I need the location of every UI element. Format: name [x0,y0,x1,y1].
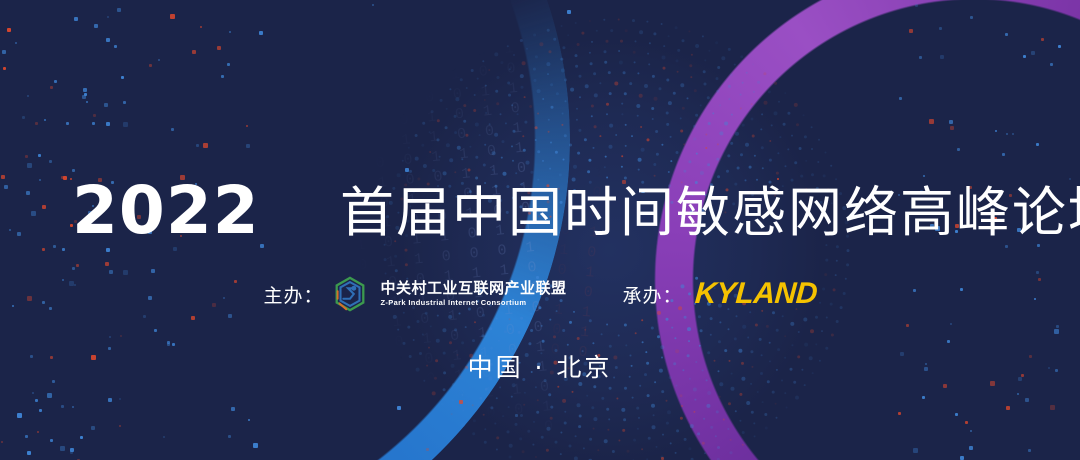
event-location: 中国 · 北京 [0,348,1080,384]
organizers-row: 主办： 中关村工业互联网产业联盟 Z-Park Industrial Inter… [0,275,1080,313]
event-title: 首届中国时间敏感网络高峰论坛 [340,183,1080,243]
zpark-name-cn: 中关村工业互联网产业联盟 [380,280,566,297]
zpark-name-en: Z-Park Industrial Internet Consortium [380,298,566,308]
event-banner: 1 0 1 0 0 1 1 0 1 0 1 1 0 1 0 0 1 0 1 0 … [0,0,1080,460]
zpark-name: 中关村工业互联网产业联盟 Z-Park Industrial Internet … [380,280,566,307]
event-year: 2022 [72,178,260,244]
organizer-host: 主办： 中关村工业互联网产业联盟 Z-Park Industrial Inter… [263,275,566,313]
kyland-wordmark: KYLAND [693,277,817,311]
coordinator-label: 承办： [623,281,683,308]
host-label: 主办： [263,281,323,308]
banner-content: 2022 首届中国时间敏感网络高峰论坛 主办： 中关村工业互联网产业联盟 [0,0,1080,460]
organizer-coordinator: 承办： KYLAND [623,277,817,311]
zpark-hexagon-logo [331,275,369,313]
